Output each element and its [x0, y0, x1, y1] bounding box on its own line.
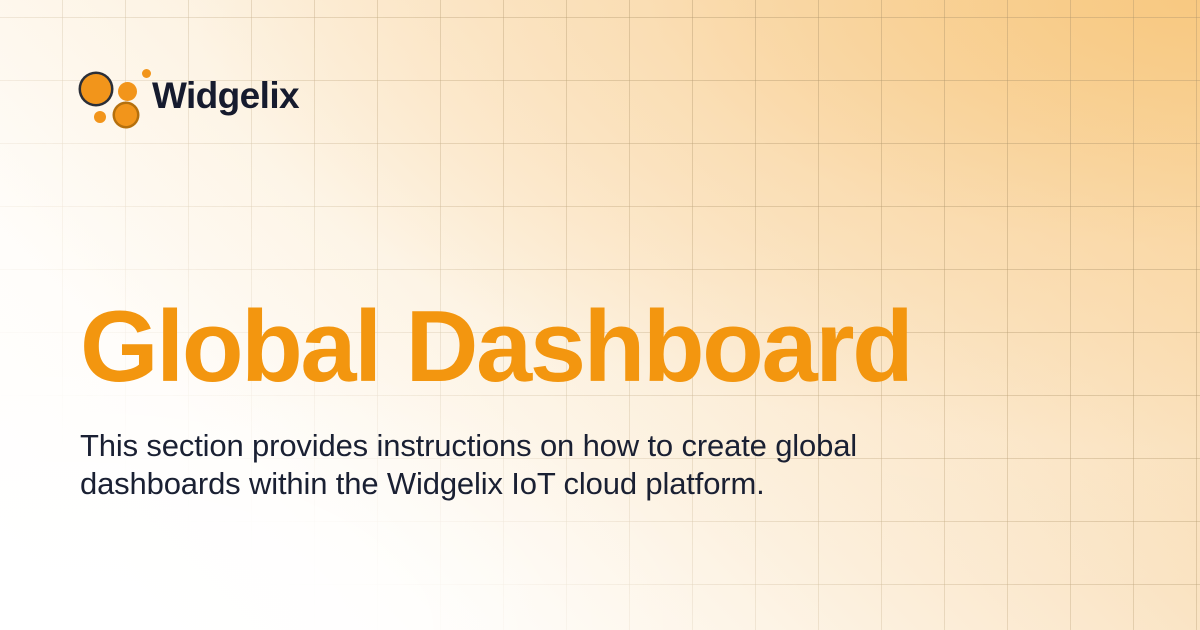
logo-dot-medium [118, 82, 137, 101]
brand-lockup[interactable]: Widgelix [80, 66, 299, 124]
logo-dot-tiny [142, 69, 151, 78]
brand-name: Widgelix [152, 77, 299, 114]
page-title: Global Dashboard [80, 297, 911, 398]
logo-dot-small [94, 111, 106, 123]
logo-dot-large-ringed [81, 74, 111, 104]
hero-banner: Widgelix Global Dashboard This section p… [0, 0, 1200, 630]
logo-dot-orange-ringed [115, 104, 137, 126]
page-description: This section provides instructions on ho… [80, 427, 890, 503]
widgelix-dots-logo-icon [80, 66, 138, 124]
banner-content: Widgelix Global Dashboard This section p… [0, 0, 1200, 630]
